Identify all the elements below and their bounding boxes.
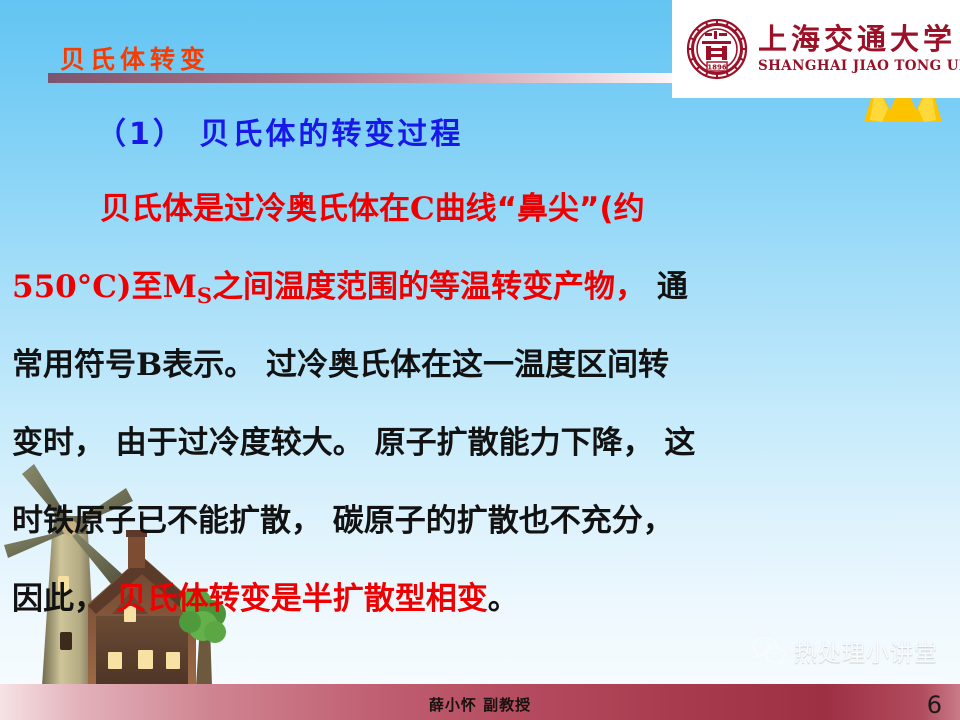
- university-logo: 1896 上海交通大学 SHANGHAI JIAO TONG UNIVERSIT…: [672, 0, 960, 98]
- text-segment: 变时， 由于过冷度较大。 原子扩散能力下降， 这: [12, 425, 695, 461]
- slide-title: 贝氏体转变: [60, 40, 210, 76]
- logo-english-name: SHANGHAI JIAO TONG UNIVERSITY: [758, 58, 960, 74]
- paragraph-line: 常用符号B表示。 过冷奥氏体在这一温度区间转: [0, 326, 960, 404]
- text-segment: 时铁原子已不能扩散， 碳原子的扩散也不充分，: [12, 503, 674, 539]
- text-segment: 常用符号: [12, 347, 136, 383]
- text-segment: 至: [132, 269, 163, 305]
- text-segment: C: [410, 191, 435, 227]
- text-segment: 之间温度范围的等温转变产物: [212, 269, 615, 305]
- paragraph-line: 变时， 由于过冷度较大。 原子扩散能力下降， 这: [0, 404, 960, 482]
- text-segment: 曲线“鼻尖”(约: [435, 191, 645, 227]
- text-segment: 550°C): [12, 269, 132, 305]
- wechat-watermark: 热处理小讲堂: [752, 634, 938, 668]
- text-segment: ，: [615, 269, 646, 305]
- text-segment: 表示。 过冷奥氏体在这一温度区间转: [162, 347, 669, 383]
- slide-body: （1） 贝氏体的转变过程 贝氏体是过冷奥氏体在C曲线“鼻尖”(约550°C)至M…: [0, 120, 960, 638]
- page-number: 6: [927, 691, 942, 719]
- svg-text:1896: 1896: [707, 63, 727, 71]
- text-segment: 。: [488, 581, 519, 617]
- section-heading: （1） 贝氏体的转变过程: [0, 120, 960, 150]
- title-underline-rule: [48, 73, 672, 83]
- footer-author: 薛小怀 副教授: [0, 694, 960, 715]
- logo-chinese-name: 上海交通大学: [758, 24, 960, 54]
- presentation-slide: 1896 上海交通大学 SHANGHAI JIAO TONG UNIVERSIT…: [0, 0, 960, 720]
- paragraph-line: 贝氏体是过冷奥氏体在C曲线“鼻尖”(约: [0, 170, 960, 248]
- sjtu-emblem-icon: 1896: [686, 18, 748, 80]
- text-segment: 因此，: [12, 581, 116, 617]
- text-segment: 贝氏体转变是半扩散型相变: [116, 581, 488, 617]
- paragraph-line: 时铁原子已不能扩散， 碳原子的扩散也不充分，: [0, 482, 960, 560]
- text-segment: 贝氏体是过冷奥氏体在: [100, 191, 410, 227]
- text-segment: 通: [646, 269, 688, 305]
- paragraph-block: 贝氏体是过冷奥氏体在C曲线“鼻尖”(约550°C)至MS之间温度范围的等温转变产…: [0, 170, 960, 638]
- text-segment: B: [136, 347, 162, 383]
- wechat-icon: [752, 636, 786, 666]
- text-segment: S: [197, 283, 212, 308]
- paragraph-line: 因此， 贝氏体转变是半扩散型相变。: [0, 560, 960, 638]
- text-segment: M: [163, 269, 197, 305]
- paragraph-line: 550°C)至MS之间温度范围的等温转变产物， 通: [0, 248, 960, 326]
- watermark-label: 热处理小讲堂: [794, 634, 938, 668]
